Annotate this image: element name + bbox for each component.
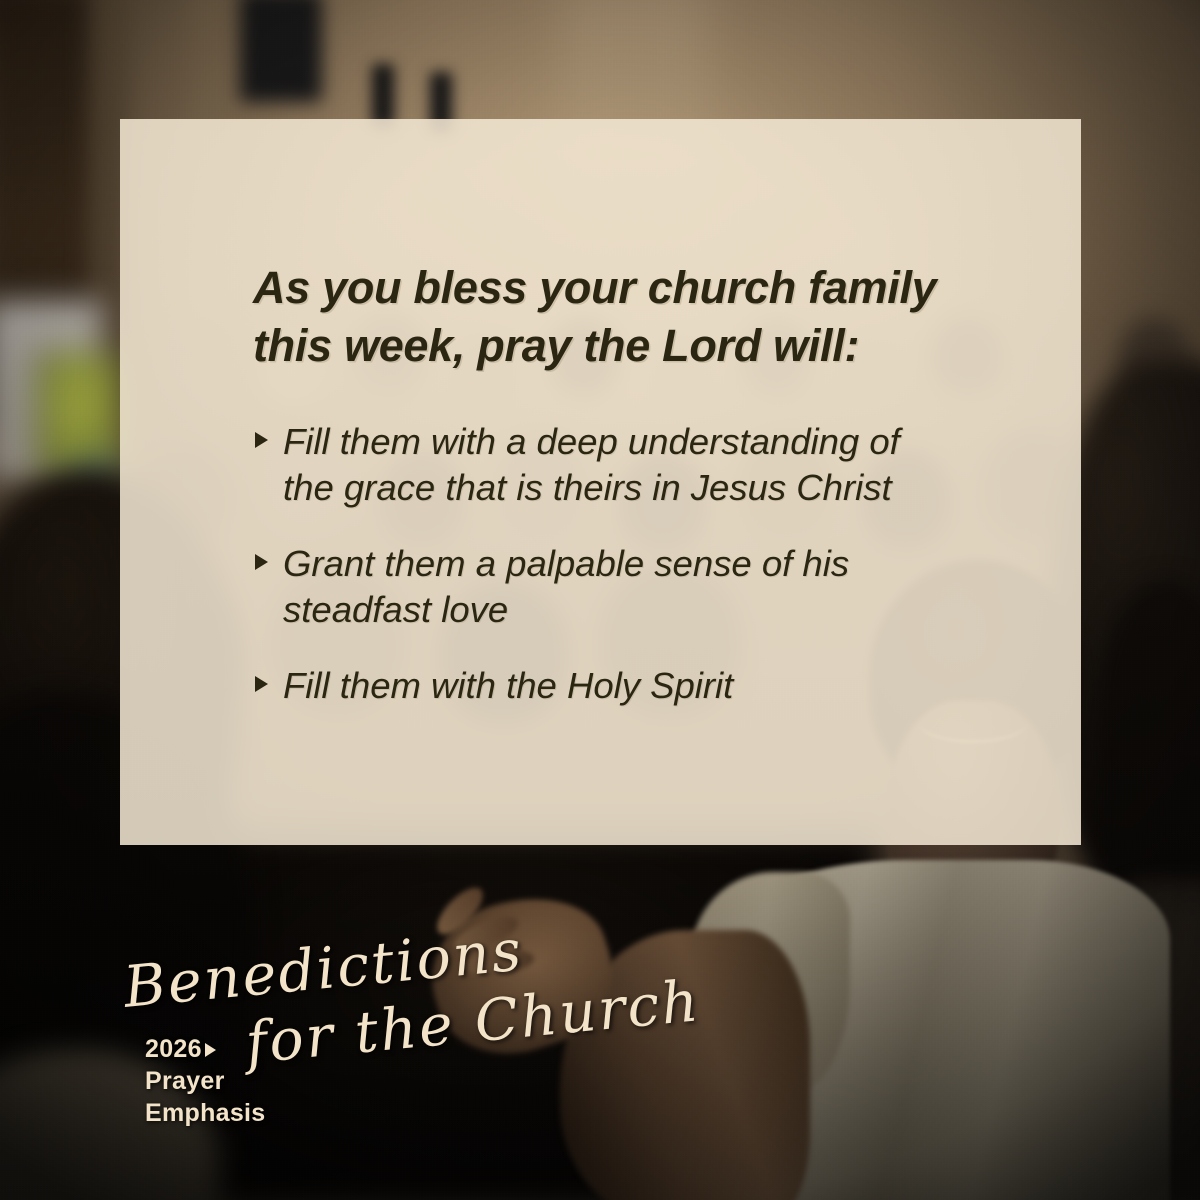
list-item-label: Fill them with a deep understanding of t… — [283, 421, 900, 508]
brand-program-line-2: Emphasis — [145, 1097, 266, 1129]
card-content: As you bless your church family this wee… — [253, 259, 1025, 709]
brand-program-block: 2026 Prayer Emphasis — [145, 1033, 266, 1129]
page-title: As you bless your church family this wee… — [253, 259, 953, 375]
prayer-points-list: Fill them with a deep understanding of t… — [253, 419, 1025, 709]
triangle-right-icon — [255, 432, 268, 448]
triangle-right-icon — [255, 554, 268, 570]
list-item: Fill them with the Holy Spirit — [253, 663, 955, 709]
list-item: Grant them a palpable sense of his stead… — [253, 541, 955, 633]
photo-silhouette-right-hair — [1096, 580, 1200, 910]
triangle-right-icon — [255, 676, 268, 692]
brand-program-line-1: Prayer — [145, 1065, 266, 1097]
brand-year: 2026 — [145, 1033, 202, 1065]
photo-dark-doorway — [240, 0, 322, 102]
content-card: As you bless your church family this wee… — [120, 119, 1081, 845]
brand-lockup: Benedictions for the Church 2026 Prayer … — [118, 955, 638, 1135]
list-item: Fill them with a deep understanding of t… — [253, 419, 955, 511]
brand-year-row: 2026 — [145, 1033, 266, 1065]
list-item-label: Grant them a palpable sense of his stead… — [283, 543, 849, 630]
poster: As you bless your church family this wee… — [0, 0, 1200, 1200]
list-item-label: Fill them with the Holy Spirit — [283, 665, 733, 706]
triangle-right-icon — [205, 1043, 216, 1057]
